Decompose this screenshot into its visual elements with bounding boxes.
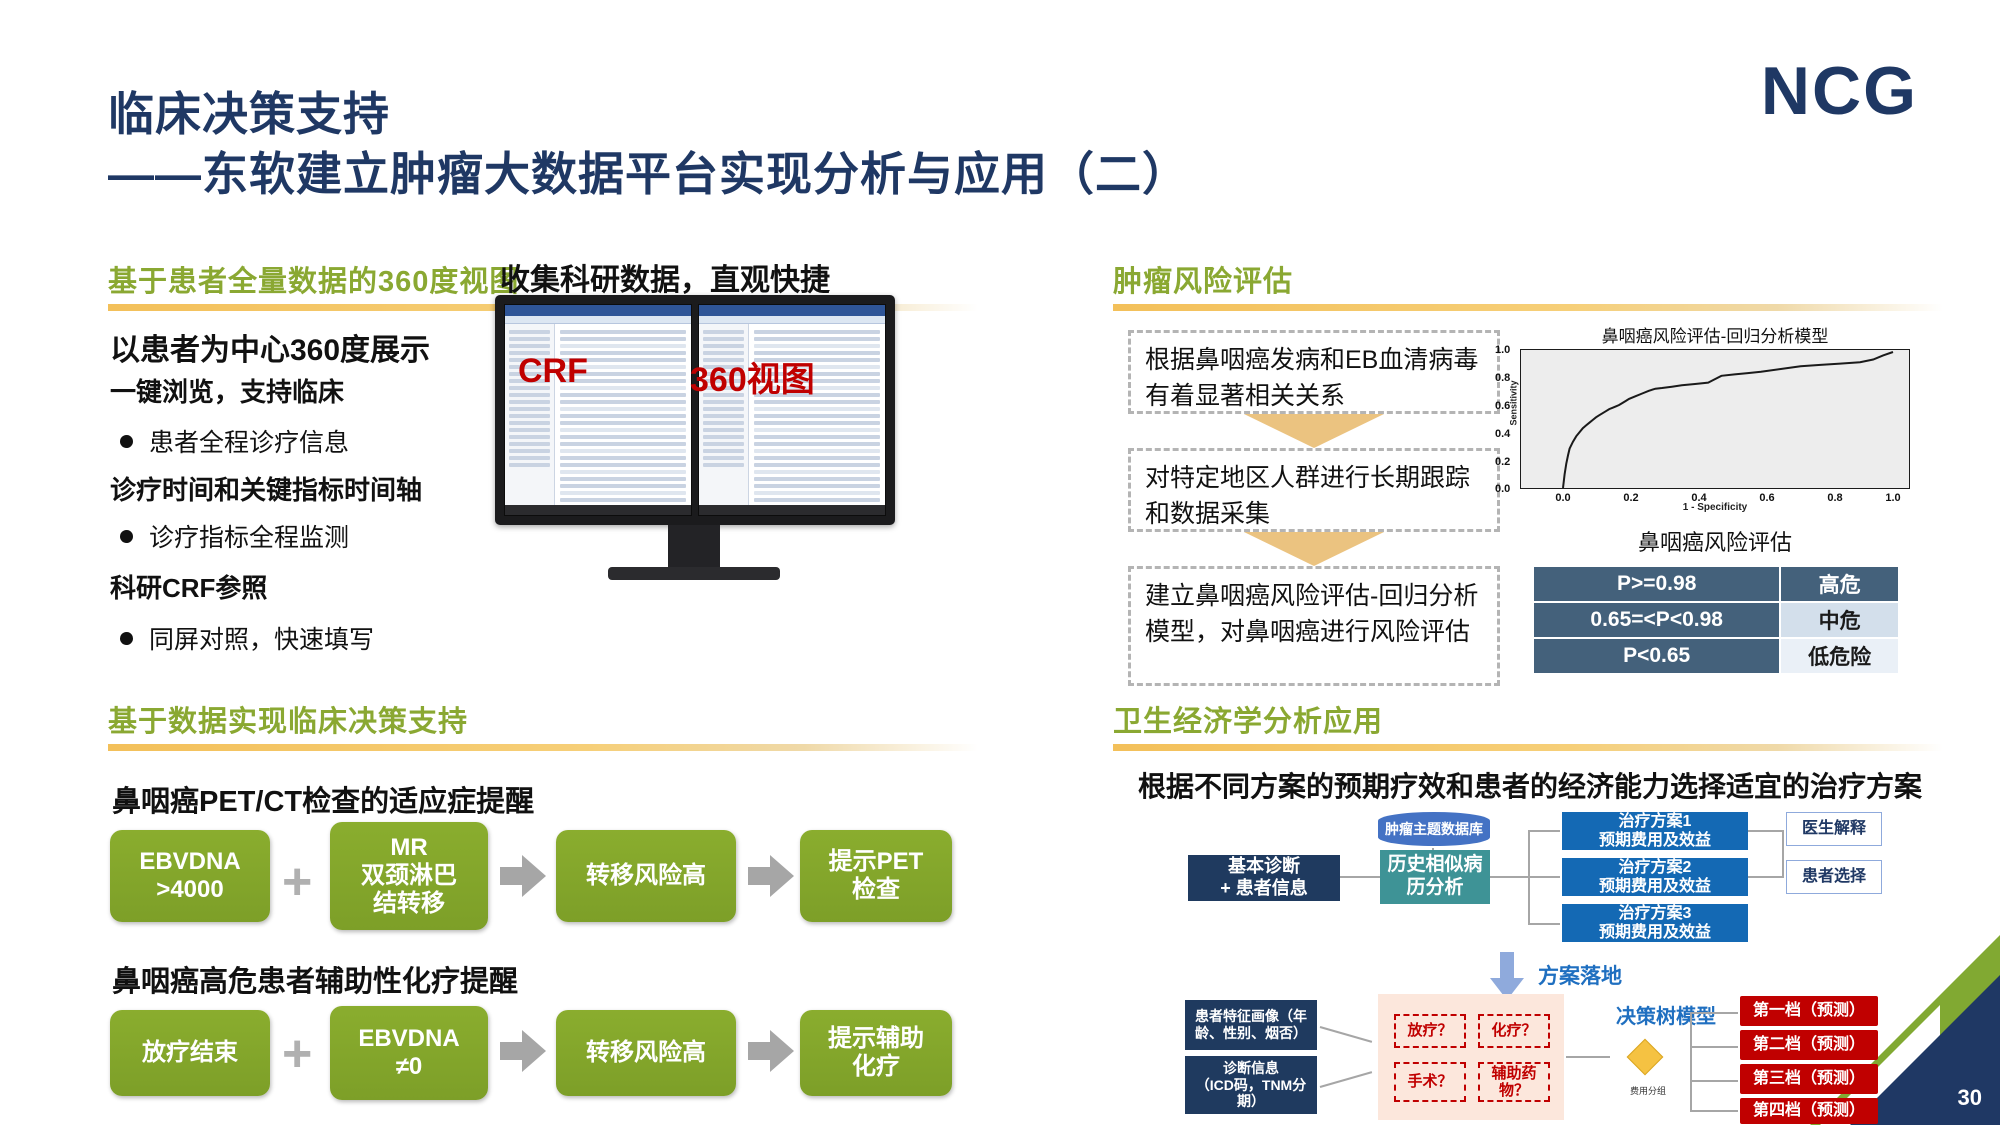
section-title-text: 肿瘤风险评估 xyxy=(1113,258,1943,300)
left-bullet-1: 患者全程诊疗信息 xyxy=(120,423,349,459)
ncg-logo: NCG xyxy=(1761,52,1918,130)
risk-step-2-label: 对特定地区人群进行长期跟踪和数据采集 xyxy=(1145,464,1470,528)
econ-connector xyxy=(1748,830,1784,832)
econ-connector xyxy=(1490,876,1530,878)
econ-input-node: 基本诊断 + 患者信息 xyxy=(1188,855,1340,901)
flow2-node-2-label: EBVDNA ≠0 xyxy=(358,1025,459,1082)
roc-ytick: 1.0 xyxy=(1495,344,1510,356)
flow1-node-3-label: 转移风险高 xyxy=(586,862,706,890)
roc-xtick: 0.0 xyxy=(1555,492,1570,504)
econ-tree-label: 决策树模型 xyxy=(1616,1000,1716,1029)
econ-plan-1: 治疗方案1 预期费用及效益 xyxy=(1562,812,1748,850)
left-heading-2: 一键浏览，支持临床 xyxy=(110,372,344,409)
flow1-node-4[interactable]: 提示PET 检查 xyxy=(800,830,952,922)
roc-curve xyxy=(1521,350,1909,488)
risk-chevron-1-icon xyxy=(1244,414,1384,448)
section-title-text: 基于数据实现临床决策支持 xyxy=(108,698,978,740)
econ-connector xyxy=(1690,1012,1692,1112)
bullet-dot-icon xyxy=(120,530,133,543)
flow2-node-1[interactable]: 放疗结束 xyxy=(110,1010,270,1096)
econ-connector xyxy=(1528,876,1560,878)
flow2-plus-icon: + xyxy=(282,1028,312,1080)
flow2-node-3[interactable]: 转移风险高 xyxy=(556,1010,736,1096)
left-bullet-2-label: 诊疗指标全程监测 xyxy=(149,518,349,554)
risk-level-cell: 低危险 xyxy=(1781,639,1898,673)
section-title-text: 卫生经济学分析应用 xyxy=(1113,698,1943,740)
bullet-dot-icon xyxy=(120,435,133,448)
econ-patient-profile-node: 患者特征画像（年龄、性别、烟否） xyxy=(1185,1000,1317,1050)
table-row: 0.65=<P<0.98 中危 xyxy=(1534,603,1898,637)
econ-connector xyxy=(1748,876,1784,878)
roc-plot-area: Sensitivity 1.0 0.8 0.6 0.4 0.2 0.0 0.0 … xyxy=(1520,349,1910,489)
flow1-node-3[interactable]: 转移风险高 xyxy=(556,830,736,922)
risk-step-3: 建立鼻咽癌风险评估-回归分析模型，对鼻咽癌进行风险评估 xyxy=(1128,566,1500,686)
risk-level-table: P>=0.98 高危 0.65=<P<0.98 中危 P<0.65 低危险 xyxy=(1532,565,1900,675)
flow2-node-3-label: 转移风险高 xyxy=(586,1039,706,1067)
econ-option-chemotherapy: 化疗？ xyxy=(1478,1014,1550,1048)
risk-level-cell: 高危 xyxy=(1781,567,1898,601)
table-row: P<0.65 低危险 xyxy=(1534,639,1898,673)
roc-xtick: 0.2 xyxy=(1623,492,1638,504)
econ-connector xyxy=(1528,830,1560,832)
screen-titlebar xyxy=(505,305,691,316)
roc-ytick: 0.6 xyxy=(1495,400,1510,412)
econ-connector xyxy=(1566,1056,1610,1058)
econ-diagnosis-node: 诊断信息 （ICD码，TNM分期） xyxy=(1185,1056,1317,1114)
roc-xtick: 0.6 xyxy=(1759,492,1774,504)
roc-ytick: 0.4 xyxy=(1495,428,1510,440)
econ-tier-3: 第三档（预测） xyxy=(1740,1064,1878,1094)
roc-ytick: 0.2 xyxy=(1495,456,1510,468)
flow1-title: 鼻咽癌PET/CT检查的适应症提醒 xyxy=(112,778,534,820)
left-heading-4: 科研CRF参照 xyxy=(110,568,267,605)
left-heading-3: 诊疗时间和关键指标时间轴 xyxy=(110,470,422,507)
screen-titlebar xyxy=(699,305,885,316)
flow1-node-2-label: MR 双颈淋巴 结转移 xyxy=(361,834,457,919)
roc-chart-title: 鼻咽癌风险评估-回归分析模型 xyxy=(1520,322,1910,347)
flow1-node-1[interactable]: EBVDNA >4000 xyxy=(110,830,270,922)
screen-left xyxy=(504,304,692,516)
screen-taskbar xyxy=(699,505,885,515)
econ-connector xyxy=(1690,1110,1738,1112)
section-heading-decision-support: 基于数据实现临床决策支持 xyxy=(108,698,978,751)
monitor-stand-base xyxy=(608,567,780,580)
risk-range-cell: P>=0.98 xyxy=(1534,567,1779,601)
roc-xtick: 1.0 xyxy=(1885,492,1900,504)
econ-option-radiotherapy: 放疗？ xyxy=(1394,1014,1466,1048)
econ-connector xyxy=(1690,1046,1738,1048)
roc-xtick: 0.8 xyxy=(1827,492,1842,504)
flow2-node-4-label: 提示辅助 化疗 xyxy=(828,1025,924,1082)
flow2-node-4[interactable]: 提示辅助 化疗 xyxy=(800,1010,952,1096)
page-title: 临床决策支持 xyxy=(108,78,390,144)
monitor-photo xyxy=(495,295,895,525)
econ-connector xyxy=(1690,1080,1738,1082)
roc-x-axis-label: 1 - Specificity xyxy=(1520,502,1910,513)
bullet-dot-icon xyxy=(120,632,133,645)
econ-cost-group-label: 费用分组 xyxy=(1618,1084,1678,1097)
page-number: 30 xyxy=(1958,1085,1982,1111)
econ-doctor-node: 医生解释 xyxy=(1786,812,1882,846)
section-heading-risk: 肿瘤风险评估 xyxy=(1113,258,1943,311)
flow2-node-2[interactable]: EBVDNA ≠0 xyxy=(330,1006,488,1100)
econ-analysis-node: 历史相似病 历分析 xyxy=(1380,850,1490,904)
econ-database-node: 肿瘤主题数据库 xyxy=(1378,812,1490,846)
econ-plan-2: 治疗方案2 预期费用及效益 xyxy=(1562,858,1748,896)
econ-connector xyxy=(1782,830,1784,878)
econ-connector xyxy=(1320,1071,1372,1088)
flow2-node-1-label: 放疗结束 xyxy=(142,1039,238,1067)
econ-option-surgery: 手术？ xyxy=(1394,1062,1466,1102)
screen-right xyxy=(698,304,886,516)
screen-label-360: 360视图 xyxy=(690,352,815,401)
left-bullet-3: 同屏对照，快速填写 xyxy=(120,620,374,656)
decision-tree-icon xyxy=(1627,1039,1664,1076)
econ-connector xyxy=(1528,923,1560,925)
section-rule xyxy=(1113,304,1943,311)
econ-connector xyxy=(1320,1026,1372,1043)
risk-step-3-label: 建立鼻咽癌风险评估-回归分析模型，对鼻咽癌进行风险评估 xyxy=(1145,582,1478,646)
econ-tier-1: 第一档（预测） xyxy=(1740,996,1878,1026)
flow1-node-1-label: EBVDNA >4000 xyxy=(139,848,240,905)
section-rule xyxy=(108,744,978,751)
left-bullet-2: 诊疗指标全程监测 xyxy=(120,518,349,554)
monitor-caption: 收集科研数据，直观快捷 xyxy=(500,255,830,299)
monitor-stand-neck xyxy=(668,525,720,567)
economics-statement: 根据不同方案的预期疗效和患者的经济能力选择适宜的治疗方案 xyxy=(1085,765,1975,805)
table-row: P>=0.98 高危 xyxy=(1534,567,1898,601)
screen-toolbar xyxy=(505,316,691,324)
econ-tier-2: 第二档（预测） xyxy=(1740,1030,1878,1060)
screen-label-crf: CRF xyxy=(518,352,588,391)
flow1-node-4-label: 提示PET 检查 xyxy=(829,848,924,905)
econ-patient-node: 患者选择 xyxy=(1786,860,1882,894)
roc-chart: 鼻咽癌风险评估-回归分析模型 Sensitivity 1.0 0.8 0.6 0… xyxy=(1520,322,1910,502)
econ-connector xyxy=(1340,876,1380,878)
econ-tier-4: 第四档（预测） xyxy=(1740,1098,1878,1124)
section-heading-economics: 卫生经济学分析应用 xyxy=(1113,698,1943,751)
left-bullet-3-label: 同屏对照，快速填写 xyxy=(149,620,374,656)
risk-level-cell: 中危 xyxy=(1781,603,1898,637)
slide-root: 30 NCG 临床决策支持 ——东软建立肿瘤大数据平台实现分析与应用（二） 基于… xyxy=(0,0,2000,1125)
screen-toolbar xyxy=(699,316,885,324)
left-heading-1: 以患者为中心360度展示 xyxy=(110,325,430,369)
risk-chevron-2-icon xyxy=(1244,532,1384,566)
page-subtitle: ——东软建立肿瘤大数据平台实现分析与应用（二） xyxy=(108,138,1189,204)
roc-ytick: 0.8 xyxy=(1495,372,1510,384)
roc-xtick: 0.4 xyxy=(1691,492,1706,504)
econ-option-adjuvant-drug: 辅助药物？ xyxy=(1478,1062,1550,1102)
section-rule xyxy=(1113,744,1943,751)
roc-ytick: 0.0 xyxy=(1495,483,1510,495)
flow1-node-2[interactable]: MR 双颈淋巴 结转移 xyxy=(330,822,488,930)
risk-step-1-label: 根据鼻咽癌发病和EB血清病毒有着显著相关关系 xyxy=(1145,346,1478,410)
screen-taskbar xyxy=(505,505,691,515)
flow1-plus-icon: + xyxy=(282,856,312,908)
econ-plan-3: 治疗方案3 预期费用及效益 xyxy=(1562,904,1748,942)
left-bullet-1-label: 患者全程诊疗信息 xyxy=(149,423,349,459)
risk-range-cell: 0.65=<P<0.98 xyxy=(1534,603,1779,637)
roc-chart-caption: 鼻咽癌风险评估 xyxy=(1520,525,1910,557)
risk-step-1: 根据鼻咽癌发病和EB血清病毒有着显著相关关系 xyxy=(1128,330,1500,414)
risk-step-2: 对特定地区人群进行长期跟踪和数据采集 xyxy=(1128,448,1500,532)
flow2-title: 鼻咽癌高危患者辅助性化疗提醒 xyxy=(112,958,518,1000)
econ-connector xyxy=(1690,1012,1738,1014)
risk-range-cell: P<0.65 xyxy=(1534,639,1779,673)
econ-landing-label: 方案落地 xyxy=(1538,960,1622,990)
